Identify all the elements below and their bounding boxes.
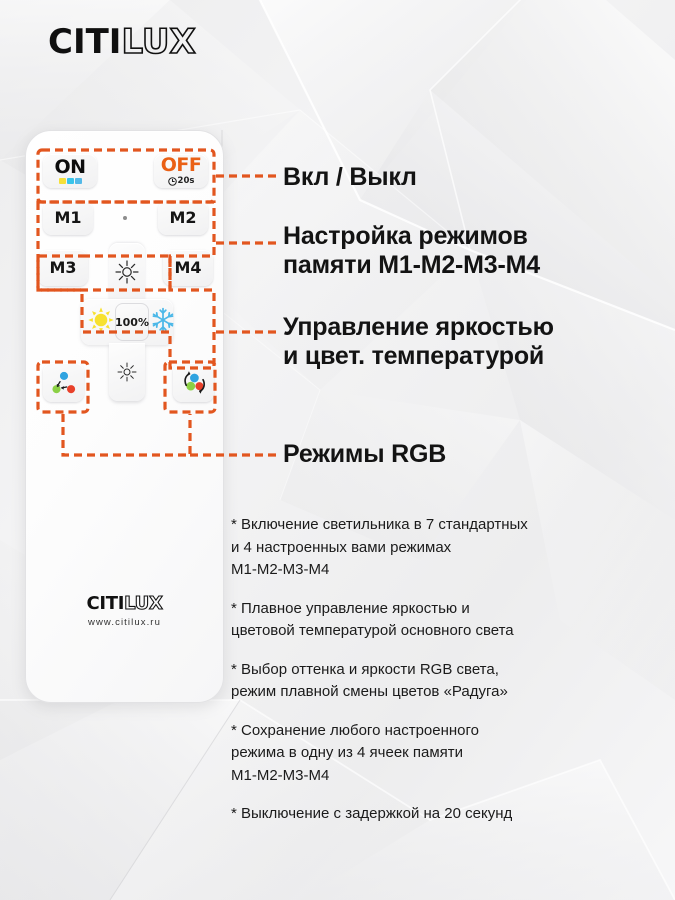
rgb-color-select-button[interactable] (43, 363, 84, 402)
memory-button-m1[interactable]: M1 (43, 201, 93, 235)
power-off-label: OFF (161, 156, 202, 175)
callout-brightness: Управление яркостью и цвет. температурой (283, 313, 668, 370)
memory-button-m1-label: M1 (54, 210, 81, 226)
brand-logo-citi: CITI (48, 22, 121, 62)
rgb-color-select-icon (49, 368, 79, 398)
memory-button-m2-label: M2 (169, 210, 196, 226)
remote-footer-url: www.citilux.ru (88, 617, 161, 628)
feature-note: * Включение светильника в 7 стандартных … (231, 514, 663, 582)
sun-bright-icon (114, 259, 140, 285)
power-off-timer: 20s (168, 176, 195, 186)
remote-control-body: ON OFF 20s M1 M2 M3 M4 (25, 130, 224, 703)
power-on-indicator-icon (59, 178, 82, 184)
sun-dim-icon (115, 360, 139, 384)
remote-footer: CITI LUX www.citilux.ru (26, 593, 223, 628)
brightness-level-label: 100% (115, 303, 149, 341)
clock-icon (168, 177, 177, 186)
power-on-button[interactable]: ON (43, 154, 97, 188)
temperature-row: 100% (81, 299, 173, 345)
power-off-timer-label: 20s (178, 176, 195, 186)
remote-footer-logo-lux: LUX (124, 593, 162, 614)
rgb-rainbow-cycle-button[interactable] (173, 363, 214, 402)
snowflake-icon (149, 306, 177, 334)
warm-light-button[interactable] (87, 306, 115, 339)
brand-logo: CITI LUX (48, 22, 196, 62)
brand-logo-lux: LUX (121, 22, 195, 62)
callout-memory: Настройка режимов памяти M1-M2-M3-M4 (283, 222, 663, 279)
memory-button-m3-label: M3 (49, 260, 76, 276)
control-pad: 100% (81, 243, 173, 401)
feature-note: * Выбор оттенка и яркости RGB света, реж… (231, 659, 663, 704)
feature-note: * Плавное управление яркостью и цветовой… (231, 598, 663, 643)
callout-power: Вкл / Выкл (283, 163, 417, 192)
cool-light-button[interactable] (149, 306, 177, 339)
brightness-up-button[interactable] (109, 243, 145, 301)
power-off-button[interactable]: OFF 20s (154, 154, 208, 188)
poster-page: CITI LUX ON OFF 20s M1 M (0, 0, 675, 900)
feature-note: * Сохранение любого настроенного режима … (231, 720, 663, 788)
remote-footer-logo-citi: CITI (86, 593, 124, 614)
feature-note: * Выключение с задержкой на 20 секунд (231, 803, 663, 826)
led-indicator-icon (123, 216, 127, 220)
memory-button-m2[interactable]: M2 (158, 201, 208, 235)
memory-button-m4-label: M4 (174, 260, 201, 276)
warm-sun-icon (87, 306, 115, 334)
brightness-down-button[interactable] (109, 343, 145, 401)
feature-notes-list: * Включение светильника в 7 стандартных … (231, 514, 663, 826)
callout-rgb: Режимы RGB (283, 440, 446, 469)
remote-footer-logo: CITI LUX (86, 593, 162, 614)
rgb-rainbow-cycle-icon (178, 367, 209, 398)
power-on-label: ON (54, 158, 85, 177)
